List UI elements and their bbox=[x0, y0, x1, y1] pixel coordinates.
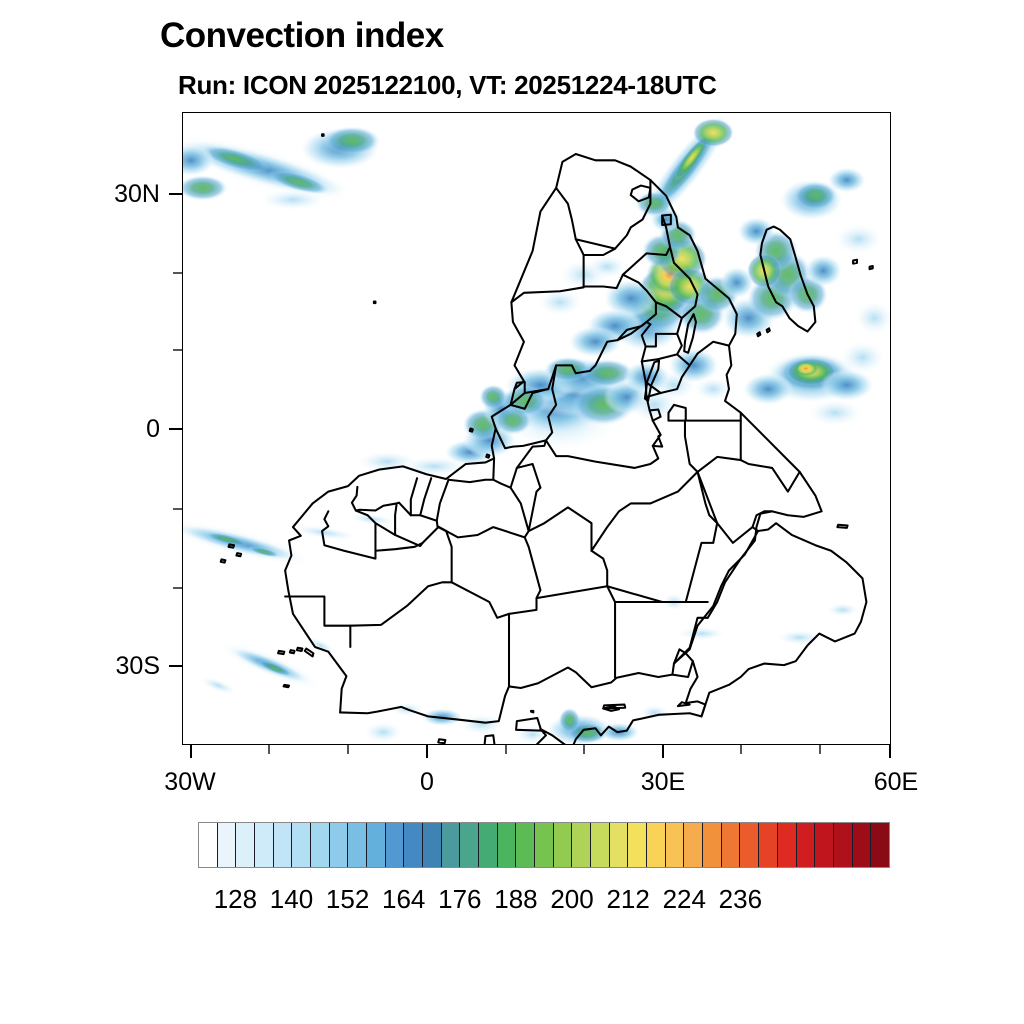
coastlines-and-borders bbox=[221, 134, 873, 744]
colorbar-swatch bbox=[722, 823, 741, 867]
colorbar-swatch bbox=[572, 823, 591, 867]
colorbar-swatch bbox=[479, 823, 498, 867]
x-tick-minor-20w bbox=[268, 745, 270, 754]
x-tick-minor-10e bbox=[505, 745, 507, 754]
colorbar-swatch bbox=[460, 823, 479, 867]
map-plot-area[interactable] bbox=[182, 112, 891, 745]
y-tick-minor-10s bbox=[173, 508, 182, 510]
page-subtitle: Run: ICON 2025122100, VT: 20251224-18UTC bbox=[178, 70, 717, 101]
colorbar-swatch bbox=[591, 823, 610, 867]
colorbar-swatch bbox=[498, 823, 517, 867]
colorbar-swatch bbox=[311, 823, 330, 867]
convection-field bbox=[183, 113, 890, 744]
y-tick-30s bbox=[169, 665, 182, 667]
colorbar-swatch bbox=[647, 823, 666, 867]
colorbar-swatch bbox=[199, 823, 218, 867]
colorbar-swatch bbox=[554, 823, 573, 867]
colorbar-swatch bbox=[442, 823, 461, 867]
y-tick-minor-10n bbox=[173, 349, 182, 351]
colorbar-swatch bbox=[759, 823, 778, 867]
x-tick-minor-20e bbox=[583, 745, 585, 754]
colorbar-swatch bbox=[274, 823, 293, 867]
colorbar-swatch bbox=[834, 823, 853, 867]
colorbar-swatch bbox=[703, 823, 722, 867]
colorbar-swatch bbox=[348, 823, 367, 867]
colorbar-swatch bbox=[815, 823, 834, 867]
x-axis-label-30e: 30E bbox=[593, 768, 733, 797]
colorbar-tick-label: 236 bbox=[695, 884, 785, 915]
y-tick-30n bbox=[169, 193, 182, 195]
x-axis-label-60e: 60E bbox=[826, 768, 966, 797]
y-axis-label-0: 0 bbox=[40, 415, 160, 444]
colorbar-swatch bbox=[871, 823, 889, 867]
colorbar-swatch bbox=[367, 823, 386, 867]
colorbar-swatch bbox=[797, 823, 816, 867]
x-tick-60e bbox=[889, 745, 891, 758]
colorbar-swatch bbox=[853, 823, 872, 867]
colorbar-swatch bbox=[330, 823, 349, 867]
x-tick-minor-10w bbox=[347, 745, 349, 754]
map-canvas bbox=[183, 113, 890, 744]
y-axis-label-30s: 30S bbox=[40, 652, 160, 681]
colorbar-swatch bbox=[778, 823, 797, 867]
x-tick-0 bbox=[426, 745, 428, 758]
colorbar-swatch bbox=[423, 823, 442, 867]
x-tick-minor-50e bbox=[819, 745, 821, 754]
colorbar-swatch bbox=[516, 823, 535, 867]
colorbar-swatch bbox=[666, 823, 685, 867]
colorbar-swatch bbox=[535, 823, 554, 867]
colorbar-swatch bbox=[218, 823, 237, 867]
colorbar-swatch bbox=[628, 823, 647, 867]
y-tick-0 bbox=[169, 428, 182, 430]
colorbar-swatch bbox=[292, 823, 311, 867]
colorbar-swatch bbox=[236, 823, 255, 867]
x-tick-30w bbox=[190, 745, 192, 758]
colorbar-swatch bbox=[610, 823, 629, 867]
colorbar-swatch bbox=[740, 823, 759, 867]
x-tick-minor-40e bbox=[740, 745, 742, 754]
page-title: Convection index bbox=[160, 16, 444, 56]
y-tick-minor-15n bbox=[173, 272, 182, 274]
x-tick-30e bbox=[662, 745, 664, 758]
colorbar-swatch bbox=[255, 823, 274, 867]
y-tick-minor-15s bbox=[173, 587, 182, 589]
y-axis-label-30n: 30N bbox=[40, 180, 160, 209]
x-axis-label-30w: 30W bbox=[120, 768, 260, 797]
colorbar[interactable] bbox=[198, 822, 890, 868]
colorbar-swatch bbox=[404, 823, 423, 867]
colorbar-swatch bbox=[684, 823, 703, 867]
colorbar-swatch bbox=[386, 823, 405, 867]
x-axis-label-0: 0 bbox=[357, 768, 497, 797]
